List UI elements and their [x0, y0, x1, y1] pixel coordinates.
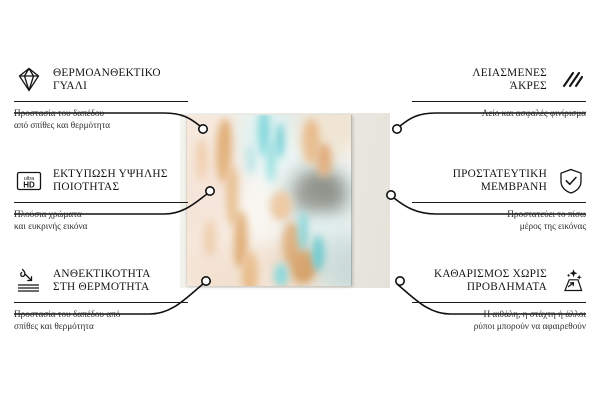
feature-title-line1: ΕΚΤΥΠΩΣΗ ΥΨΗΛΗΣ [53, 168, 168, 180]
feature-title-line2: ΜΕΜΒΡΑΝΗ [481, 181, 547, 193]
feature-title: ΘΕΡΜΟΑΝΘΕΚΤΙΚΟ ΓΥΑΛΙ [53, 67, 161, 94]
diagonal-lines-icon [556, 65, 586, 95]
feature-desc-line1: Προστασία του δαπέδου από [14, 309, 120, 319]
feature-header: ΠΡΟΣΤΑΤΕΥΤΙΚΗ ΜΕΜΒΡΑΝΗ [412, 165, 586, 197]
product-glass-panel [186, 115, 352, 286]
feature-title: ΚΑΘΑΡΙΣΜΟΣ ΧΩΡΙΣ ΠΡΟΒΛΗΜΑΤΑ [434, 268, 547, 295]
feature-description: Η αιθάλη, η στάχτη ή άλλοι ρύποι μπορούν… [412, 309, 586, 332]
feature-divider [412, 202, 586, 203]
feature-desc-line1: Η αιθάλη, η στάχτη ή άλλοι [483, 309, 586, 319]
feature-divider [412, 302, 586, 303]
feature-title: ΑΝΘΕΚΤΙΚΟΤΗΤΑ ΣΤΗ ΘΕΡΜΟΤΗΤΑ [53, 268, 151, 295]
feature-title-line2: ΣΤΗ ΘΕΡΜΟΤΗΤΑ [53, 281, 149, 293]
feature-desc-line2: σπίθες και θερμότητα [14, 321, 94, 331]
feature-title: ΠΡΟΣΤΑΤΕΥΤΙΚΗ ΜΕΜΒΡΑΝΗ [453, 168, 547, 195]
ultra-hd-icon: ultra HD [14, 166, 44, 196]
feature-desc-line1: Λείο και ασφαλές φινίρισμα [482, 108, 586, 118]
feature-divider [14, 101, 188, 102]
feature-easy-cleaning: ΚΑΘΑΡΙΣΜΟΣ ΧΩΡΙΣ ΠΡΟΒΛΗΜΑΤΑ Η αιθάλη, η … [412, 265, 586, 332]
shield-check-icon [556, 166, 586, 196]
feature-divider [14, 202, 188, 203]
feature-description: Λείο και ασφαλές φινίρισμα [412, 108, 586, 120]
feature-title-line2: ΆΚΡΕΣ [510, 80, 547, 92]
feature-desc-line2: και ευκρινής εικόνα [14, 221, 87, 231]
feature-title-line1: ΠΡΟΣΤΑΤΕΥΤΙΚΗ [453, 168, 547, 180]
feature-description: Πλούσια χρώματα και ευκρινής εικόνα [14, 209, 188, 232]
feature-header: ΛΕΙΑΣΜΕΝΕΣ ΆΚΡΕΣ [412, 64, 586, 96]
feature-heat-resistant-glass: ΘΕΡΜΟΑΝΘΕΚΤΙΚΟ ΓΥΑΛΙ Προστασία του δαπέδ… [14, 64, 188, 131]
infographic-page: ΘΕΡΜΟΑΝΘΕΚΤΙΚΟ ΓΥΑΛΙ Προστασία του δαπέδ… [0, 0, 600, 400]
feature-title-line1: ΚΑΘΑΡΙΣΜΟΣ ΧΩΡΙΣ [434, 268, 547, 280]
feature-desc-line2: από σπίθες και θερμότητα [14, 120, 110, 130]
feature-title-line1: ΘΕΡΜΟΑΝΘΕΚΤΙΚΟ [53, 67, 161, 79]
feature-desc-line1: Προστασία του δαπέδου [14, 108, 104, 118]
feature-description: Προστασία του δαπέδου από σπίθες και θερ… [14, 108, 188, 131]
feature-title-line1: ΑΝΘΕΚΤΙΚΟΤΗΤΑ [53, 268, 151, 280]
feature-description: Προστατεύει το πίσω μέρος της εικόνας [412, 209, 586, 232]
connector-dot-right-3 [396, 277, 404, 285]
feature-desc-line1: Πλούσια χρώματα [14, 209, 82, 219]
sparkle-clean-icon [556, 266, 586, 296]
diamond-icon [14, 65, 44, 95]
feature-title: ΛΕΙΑΣΜΕΝΕΣ ΆΚΡΕΣ [472, 67, 547, 94]
feature-high-quality-print: ultra HD ΕΚΤΥΠΩΣΗ ΥΨΗΛΗΣ ΠΟΙΟΤΗΤΑΣ Πλούσ… [14, 165, 188, 232]
feature-header: ΘΕΡΜΟΑΝΘΕΚΤΙΚΟ ΓΥΑΛΙ [14, 64, 188, 96]
feature-desc-line2: μέρος της εικόνας [520, 221, 586, 231]
product-image [180, 113, 390, 288]
feature-polished-edges: ΛΕΙΑΣΜΕΝΕΣ ΆΚΡΕΣ Λείο και ασφαλές φινίρι… [412, 64, 586, 120]
feature-title: ΕΚΤΥΠΩΣΗ ΥΨΗΛΗΣ ΠΟΙΟΤΗΤΑΣ [53, 168, 168, 195]
feature-heat-durability: ΑΝΘΕΚΤΙΚΟΤΗΤΑ ΣΤΗ ΘΕΡΜΟΤΗΤΑ Προστασία το… [14, 265, 188, 332]
feature-title-line2: ΠΡΟΒΛΗΜΑΤΑ [467, 281, 547, 293]
feature-header: ΑΝΘΕΚΤΙΚΟΤΗΤΑ ΣΤΗ ΘΕΡΜΟΤΗΤΑ [14, 265, 188, 297]
feature-title-line2: ΠΟΙΟΤΗΤΑΣ [53, 181, 119, 193]
svg-text:HD: HD [23, 180, 35, 189]
feature-title-line2: ΓΥΑΛΙ [53, 80, 87, 92]
feature-desc-line2: ρύποι μπορούν να αφαιρεθούν [474, 321, 586, 331]
feature-description: Προστασία του δαπέδου από σπίθες και θερ… [14, 309, 188, 332]
feature-header: ultra HD ΕΚΤΥΠΩΣΗ ΥΨΗΛΗΣ ΠΟΙΟΤΗΤΑΣ [14, 165, 188, 197]
feature-protective-membrane: ΠΡΟΣΤΑΤΕΥΤΙΚΗ ΜΕΜΒΡΑΝΗ Προστατεύει το πί… [412, 165, 586, 232]
feature-title-line1: ΛΕΙΑΣΜΕΝΕΣ [472, 67, 547, 79]
feature-divider [412, 101, 586, 102]
flame-surface-icon [14, 266, 44, 296]
feature-divider [14, 302, 188, 303]
connector-dot-right-1 [393, 125, 401, 133]
feature-header: ΚΑΘΑΡΙΣΜΟΣ ΧΩΡΙΣ ΠΡΟΒΛΗΜΑΤΑ [412, 265, 586, 297]
feature-desc-line1: Προστατεύει το πίσω [507, 209, 586, 219]
